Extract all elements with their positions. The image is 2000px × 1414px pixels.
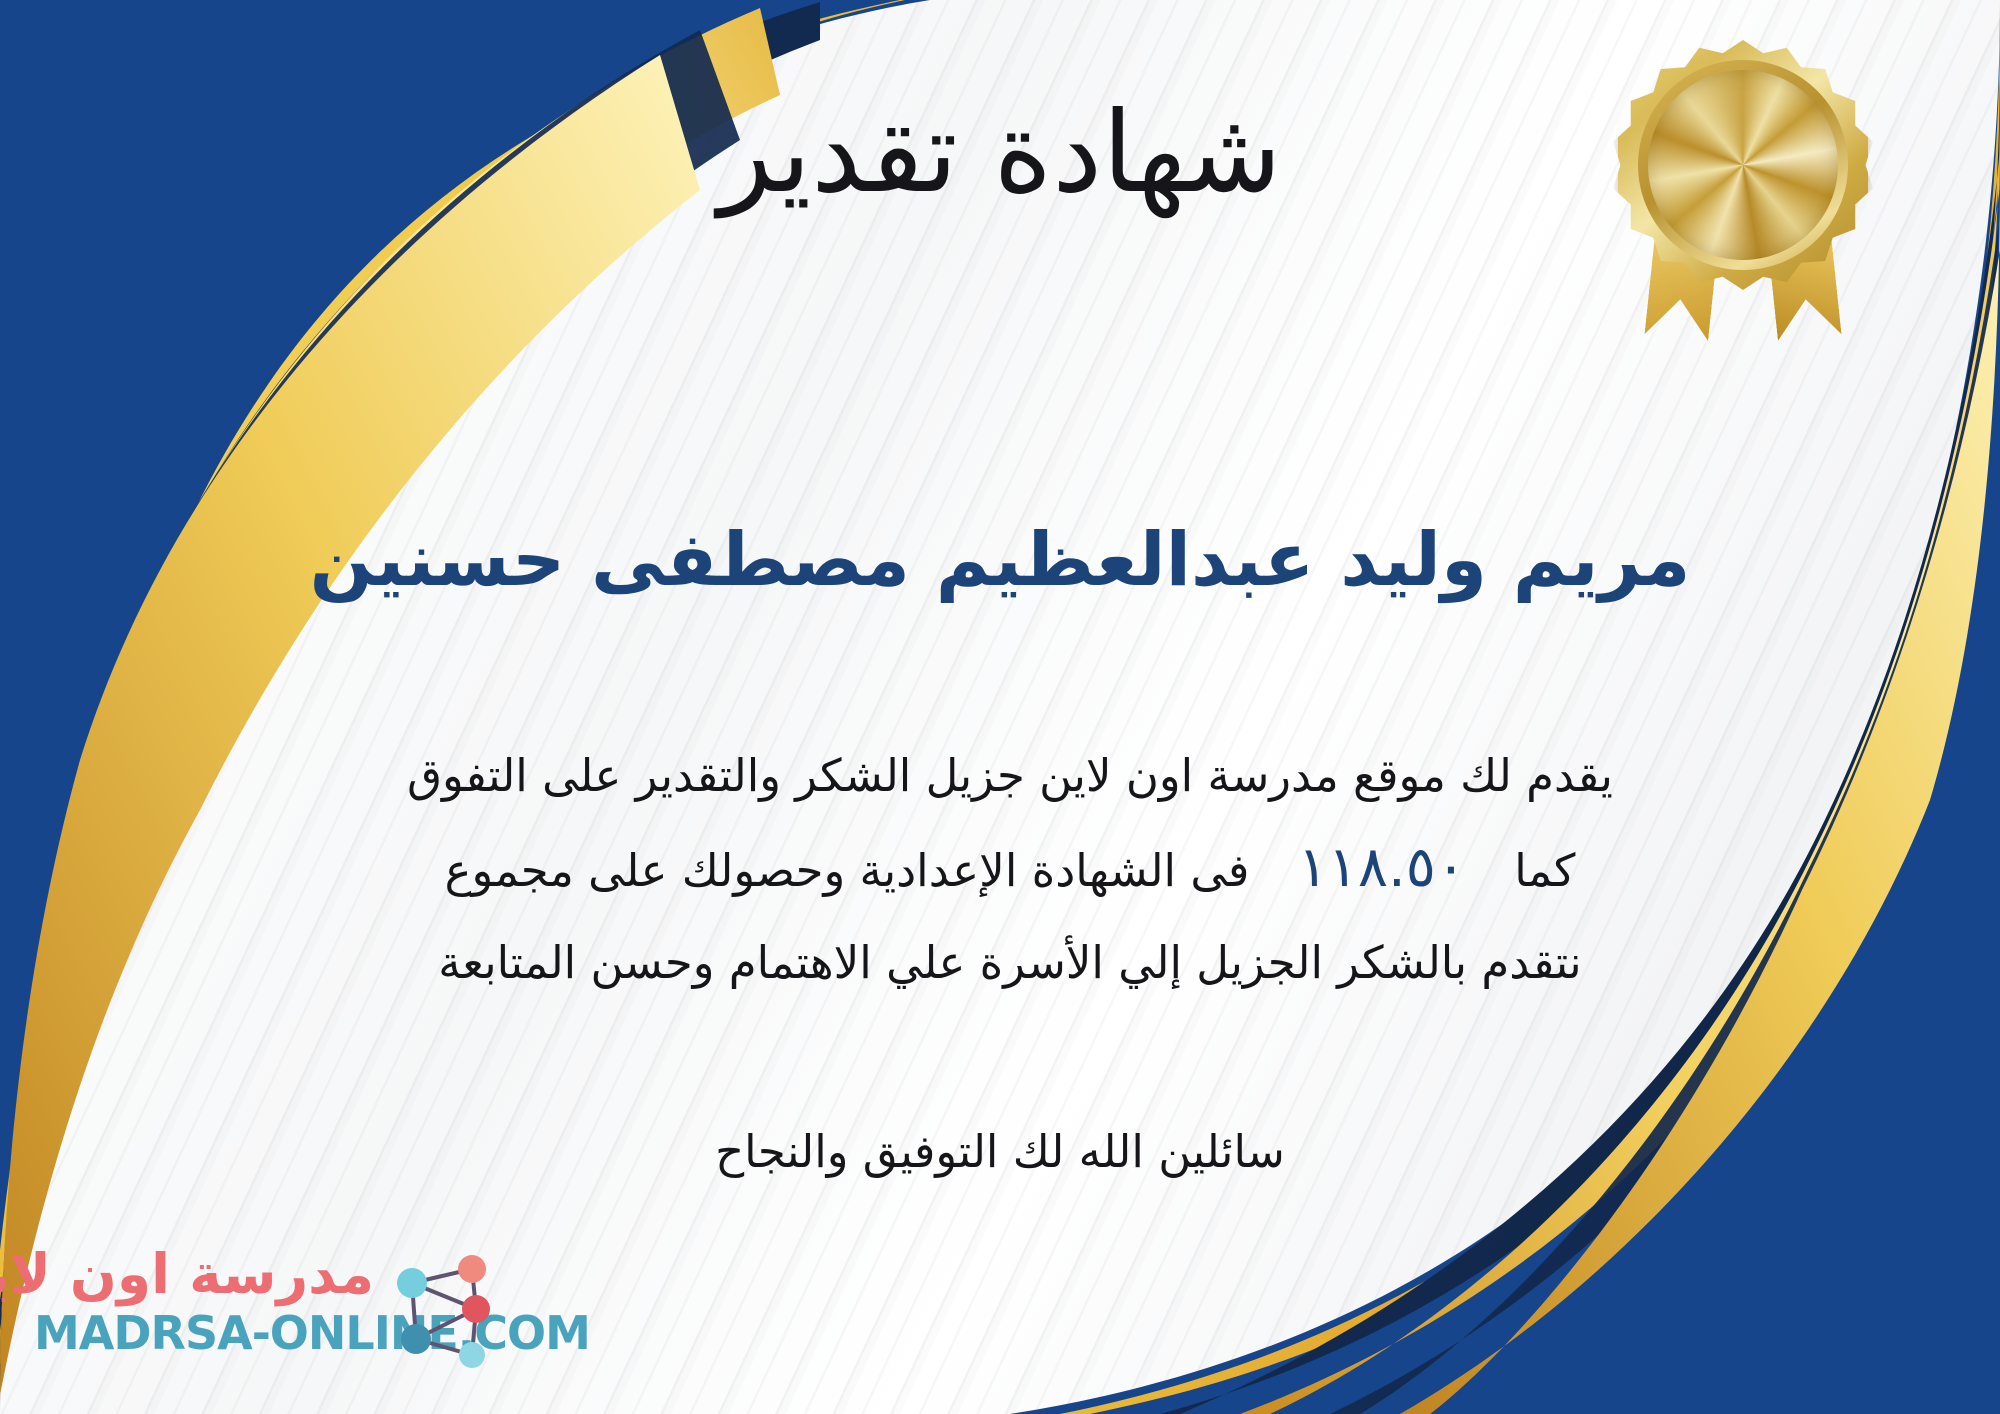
total-grade-value: ١١٨.٥٠: [1264, 835, 1500, 900]
certificate-content: شهادة تقدير مريم وليد عبدالعظيم مصطفى حس…: [0, 0, 2000, 1414]
recipient-name: مريم وليد عبدالعظيم مصطفى حسنين: [0, 520, 2000, 601]
logo-arabic-name: مدرسة اون لاين: [34, 1243, 374, 1305]
closing-line: سائلين الله لك التوفيق والنجاح: [0, 1125, 2000, 1178]
certificate-title: شهادة تقدير: [0, 95, 2000, 213]
body-line-2-suffix: كما: [1514, 844, 1575, 897]
body-line-2: كما ١١٨.٥٠ فى الشهادة الإعدادية وحصولك ع…: [210, 822, 1810, 917]
body-line-1: يقدم لك موقع مدرسة اون لاين جزيل الشكر و…: [210, 730, 1810, 822]
logo-website-url: MADRSA-ONLINE.COM: [34, 1305, 374, 1361]
network-nodes-icon: [386, 1247, 504, 1375]
certificate-body: يقدم لك موقع مدرسة اون لاين جزيل الشكر و…: [210, 730, 1810, 1009]
certificate-canvas: شهادة تقدير مريم وليد عبدالعظيم مصطفى حس…: [0, 0, 2000, 1414]
body-line-2-prefix: فى الشهادة الإعدادية وحصولك على مجموع: [445, 844, 1250, 897]
site-logo[interactable]: مدرسة اون لاين MADRSA-ONLINE.COM: [34, 1243, 504, 1383]
logo-text-group: مدرسة اون لاين MADRSA-ONLINE.COM: [34, 1243, 374, 1361]
body-line-3: نتقدم بالشكر الجزيل إلي الأسرة علي الاهت…: [210, 917, 1810, 1009]
